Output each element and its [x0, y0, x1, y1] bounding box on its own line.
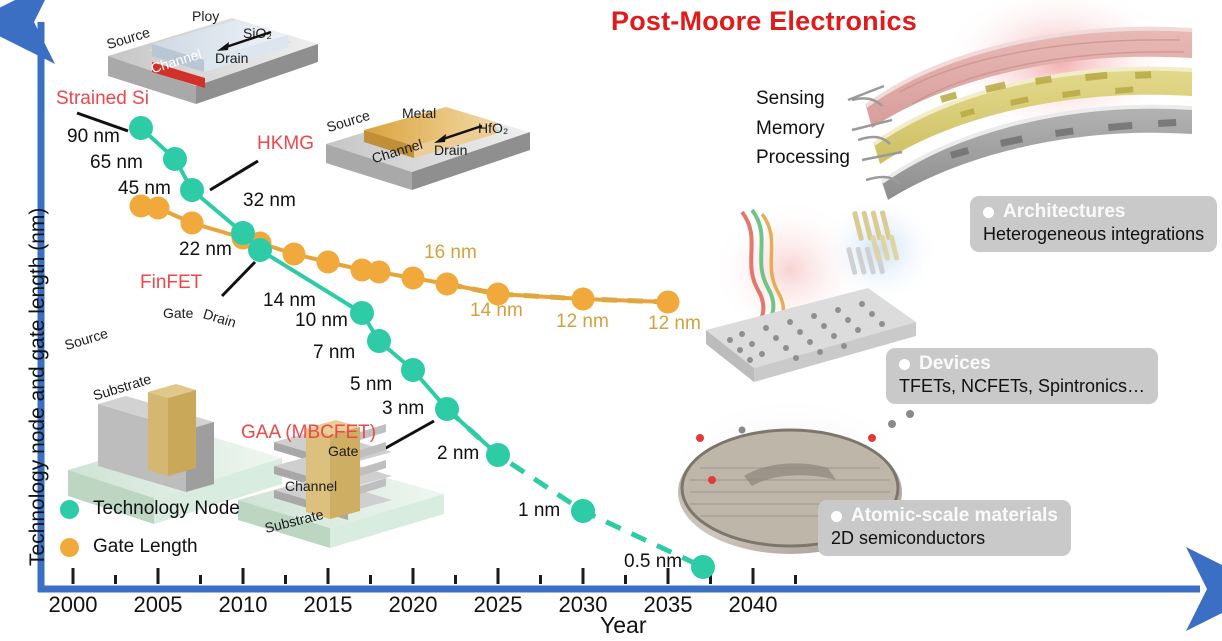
point-label-45nm: 45 nm — [118, 178, 171, 200]
callout-devices-heading-row: Devices — [899, 353, 1145, 375]
x-tick-2020: 2020 — [373, 592, 453, 618]
illustration-flexible-stack — [852, 0, 1192, 200]
x-tick-2035: 2035 — [628, 592, 708, 618]
legend-label-technology-node: Technology Node — [93, 498, 240, 520]
finfet-gate-label: Gate — [163, 305, 193, 321]
callout-architectures: Architectures Heterogeneous integrations — [970, 196, 1217, 252]
point-label-65nm: 65 nm — [90, 152, 143, 174]
tech-label-finfet: FinFET — [140, 272, 202, 294]
stack-label-sensing: Sensing — [756, 88, 825, 110]
legend-label-gate-length: Gate Length — [93, 536, 198, 558]
stack-label-processing: Processing — [756, 147, 850, 169]
x-tick-2005: 2005 — [118, 592, 198, 618]
point-label-14nm: 14 nm — [263, 290, 316, 312]
callout-architectures-heading: Architectures — [1003, 201, 1126, 223]
callout-atomic-scale-materials: Atomic-scale materials 2D semiconductors — [818, 500, 1071, 556]
point-label-0-5nm: 0.5 nm — [624, 551, 682, 573]
callout-devices-body: TFETs, NCFETs, Spintronics… — [899, 376, 1145, 397]
point-label-10nm: 10 nm — [295, 310, 348, 332]
gaa-gate-label: Gate — [328, 443, 358, 459]
point-label-32nm: 32 nm — [243, 190, 296, 212]
hkmg-oxide-arrow — [432, 122, 486, 146]
gate-label-14nm: 14 nm — [470, 300, 523, 322]
callout-architectures-heading-row: Architectures — [983, 201, 1204, 223]
callout-devices-heading: Devices — [919, 353, 991, 375]
legend-item-gate-length: Gate Length — [60, 536, 198, 558]
legend-item-technology-node: Technology Node — [60, 498, 240, 520]
x-tick-2040: 2040 — [713, 592, 793, 618]
legend-marker-gate-length — [60, 538, 79, 557]
callout-atomic-heading: Atomic-scale materials — [851, 505, 1058, 527]
bullet-icon — [983, 207, 994, 218]
point-label-3nm: 3 nm — [382, 398, 424, 420]
callout-atomic-heading-row: Atomic-scale materials — [831, 505, 1058, 527]
callout-atomic-body: 2D semiconductors — [831, 528, 1058, 549]
y-axis-label: Technology node and gate length (nm) — [26, 208, 50, 566]
point-label-22nm: 22 nm — [179, 239, 232, 261]
bullet-icon — [899, 359, 910, 370]
point-label-90nm: 90 nm — [67, 126, 120, 148]
tech-label-strained-si: Strained Si — [56, 88, 149, 110]
x-tick-2030: 2030 — [543, 592, 623, 618]
planar-gate-label: Ploy — [192, 8, 219, 24]
x-tick-2000: 2000 — [33, 592, 113, 618]
stack-label-memory: Memory — [756, 118, 825, 140]
callout-devices: Devices TFETs, NCFETs, Spintronics… — [886, 348, 1158, 404]
gate-label-12nm-2030: 12 nm — [556, 311, 609, 333]
x-tick-2015: 2015 — [288, 592, 368, 618]
tech-label-hkmg: HKMG — [257, 133, 314, 155]
gaa-channel-label: Channel — [285, 478, 337, 494]
point-label-2nm: 2 nm — [437, 443, 479, 465]
x-tick-2025: 2025 — [458, 592, 538, 618]
hkmg-gate-label: Metal — [402, 105, 436, 121]
planar-oxide-arrow — [215, 28, 275, 54]
tech-label-gaa-mbcfet: GAA (MBCFET) — [241, 422, 376, 444]
point-label-5nm: 5 nm — [350, 374, 392, 396]
gate-label-12nm-2035: 12 nm — [648, 313, 701, 335]
point-label-7nm: 7 nm — [313, 342, 355, 364]
legend-marker-technology-node — [60, 500, 79, 519]
x-tick-2010: 2010 — [203, 592, 283, 618]
figure-canvas: Post-Moore Electronics — [0, 0, 1222, 641]
callout-architectures-body: Heterogeneous integrations — [983, 224, 1204, 245]
bullet-icon — [831, 511, 842, 522]
point-label-1nm: 1 nm — [518, 500, 560, 522]
gate-label-16nm: 16 nm — [424, 242, 477, 264]
